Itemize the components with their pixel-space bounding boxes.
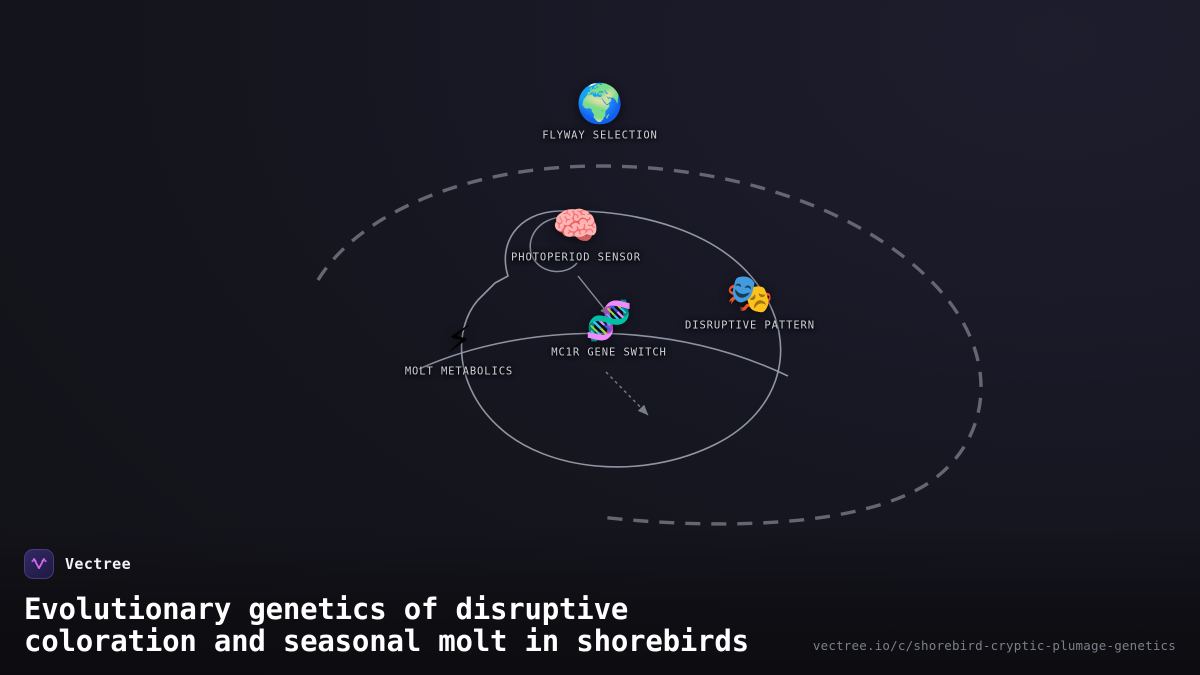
brand-name: Vectree (65, 555, 131, 573)
graph-node-mc1r[interactable]: 🧬 MC1R GENE SWITCH (551, 302, 667, 359)
brain-icon: 🧠 (552, 207, 599, 245)
high-voltage-icon: ⚡ (446, 321, 473, 359)
graph-node-photoperiod[interactable]: 🧠 PHOTOPERIOD SENSOR (511, 207, 641, 264)
graph-node-molt[interactable]: ⚡ MOLT METABOLICS (405, 321, 513, 378)
page-title: Evolutionary genetics of disruptive colo… (24, 593, 814, 657)
performing-arts-icon: 🎭 (726, 275, 773, 313)
graph-node-flyway[interactable]: 🌍 FLYWAY SELECTION (542, 85, 658, 142)
graph-node-label: MOLT METABOLICS (405, 366, 513, 378)
footer: Vectree Evolutionary genetics of disrupt… (0, 549, 1200, 675)
source-url: vectree.io/c/shorebird-cryptic-plumage-g… (813, 638, 1176, 653)
brand[interactable]: Vectree (24, 549, 1176, 579)
edge-gene-downstream (606, 372, 648, 415)
graph-node-label: FLYWAY SELECTION (542, 130, 658, 142)
globe-icon: 🌍 (576, 85, 623, 123)
vectree-branching-v-icon (24, 549, 54, 579)
graph-node-label: DISRUPTIVE PATTERN (685, 320, 815, 332)
graph-node-disruptive[interactable]: 🎭 DISRUPTIVE PATTERN (685, 275, 815, 332)
graph-node-label: MC1R GENE SWITCH (551, 347, 667, 359)
dna-icon: 🧬 (585, 302, 632, 340)
graph-node-label: PHOTOPERIOD SENSOR (511, 252, 641, 264)
